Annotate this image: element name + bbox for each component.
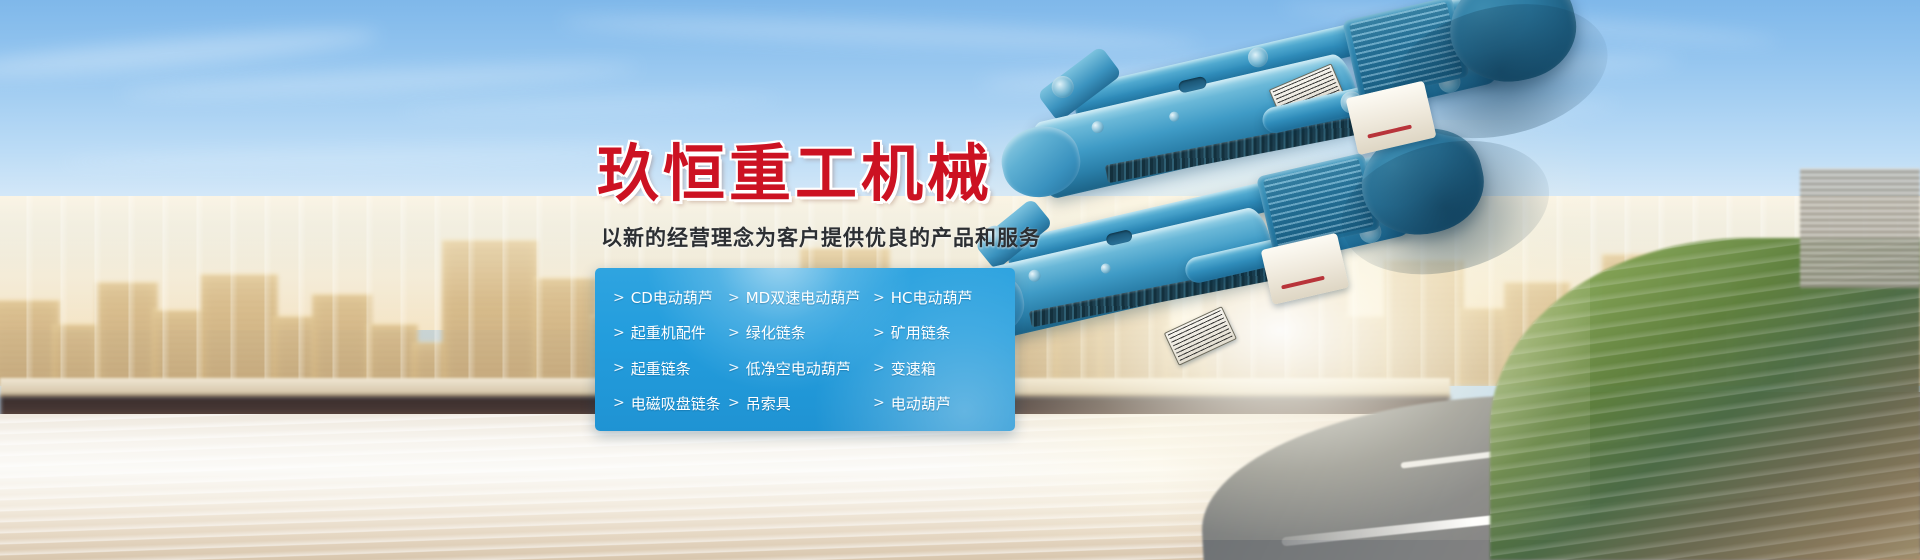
product-link-magnetic-chuck-chain[interactable]: > 电磁吸盘链条 [613, 393, 728, 414]
product-label: 变速箱 [891, 358, 936, 379]
product-link-lifting-chain[interactable]: > 起重链条 [613, 358, 728, 379]
promo-banner: 玖恒重工机械 以新的经营理念为客户提供优良的产品和服务 > CD电动葫芦 > M… [0, 0, 1920, 560]
product-link-cd-hoist[interactable]: > CD电动葫芦 [613, 287, 728, 308]
chevron-right-icon: > [728, 396, 740, 410]
page-subtitle: 以新的经营理念为客户提供优良的产品和服务 [601, 222, 1041, 252]
chevron-right-icon: > [873, 291, 885, 305]
product-link-greening-chain[interactable]: > 绿化链条 [728, 322, 873, 343]
product-link-slings[interactable]: > 吊索具 [728, 393, 873, 414]
chevron-right-icon: > [728, 326, 740, 340]
product-label: 起重机配件 [631, 322, 706, 343]
product-label: HC电动葫芦 [891, 287, 973, 308]
product-link-low-headroom-hoist[interactable]: > 低净空电动葫芦 [728, 358, 873, 379]
product-label: 吊索具 [746, 393, 791, 414]
product-category-grid: > CD电动葫芦 > MD双速电动葫芦 > HC电动葫芦 > 起重机配件 > 绿… [595, 268, 1015, 431]
product-label: 起重链条 [631, 358, 691, 379]
chevron-right-icon: > [873, 396, 885, 410]
product-link-crane-parts[interactable]: > 起重机配件 [613, 322, 728, 343]
chevron-right-icon: > [613, 396, 625, 410]
chevron-right-icon: > [613, 326, 625, 340]
product-link-md-dual-speed-hoist[interactable]: > MD双速电动葫芦 [728, 287, 873, 308]
product-category-panel: > CD电动葫芦 > MD双速电动葫芦 > HC电动葫芦 > 起重机配件 > 绿… [595, 268, 1015, 431]
product-link-hc-hoist[interactable]: > HC电动葫芦 [873, 287, 1015, 308]
chevron-right-icon: > [728, 291, 740, 305]
chevron-right-icon: > [728, 361, 740, 375]
chevron-right-icon: > [873, 361, 885, 375]
product-label: 电磁吸盘链条 [631, 393, 721, 414]
product-label: 低净空电动葫芦 [746, 358, 851, 379]
product-link-gearbox[interactable]: > 变速箱 [873, 358, 1015, 379]
chevron-right-icon: > [613, 361, 625, 375]
product-label: 电动葫芦 [891, 393, 951, 414]
electric-hoist-group [1040, 40, 1920, 460]
chevron-right-icon: > [613, 291, 625, 305]
product-link-mining-chain[interactable]: > 矿用链条 [873, 322, 1015, 343]
product-label: 绿化链条 [746, 322, 806, 343]
product-label: CD电动葫芦 [631, 287, 713, 308]
product-label: MD双速电动葫芦 [746, 287, 861, 308]
product-link-electric-hoist[interactable]: > 电动葫芦 [873, 393, 1015, 414]
product-label: 矿用链条 [891, 322, 951, 343]
chevron-right-icon: > [873, 326, 885, 340]
page-title: 玖恒重工机械 [597, 123, 993, 213]
